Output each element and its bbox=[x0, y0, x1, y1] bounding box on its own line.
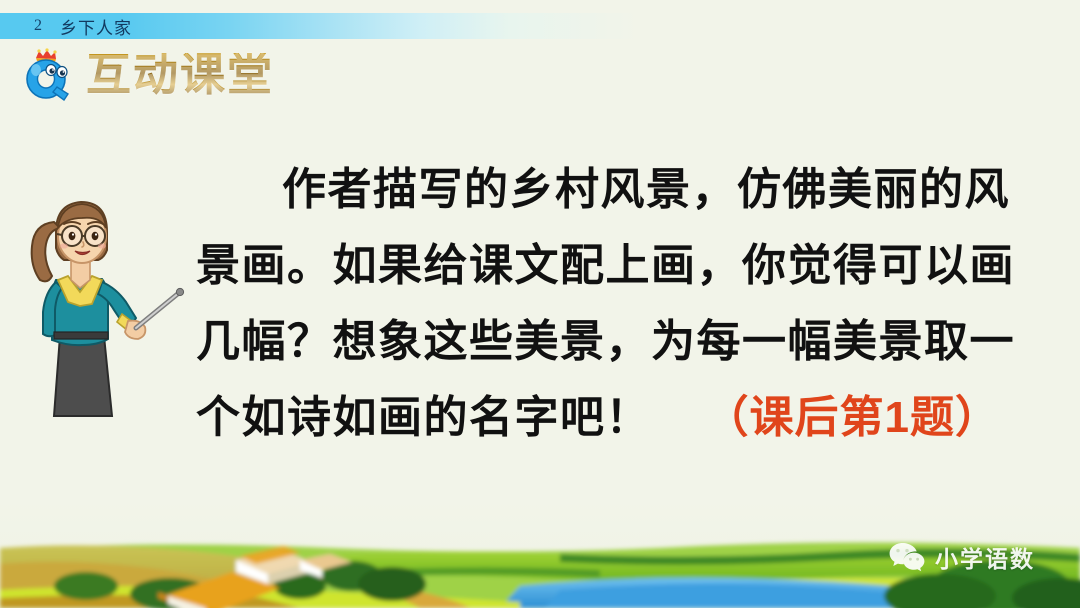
wechat-icon bbox=[888, 541, 926, 573]
question-reference: （课后第1题） bbox=[704, 393, 999, 442]
question-line-1: 作者描写的乡村风景，仿佛美丽的风 bbox=[196, 152, 1026, 228]
teacher-pointing-icon bbox=[12, 188, 187, 423]
question-line-3: 几幅？想象这些美景，为每一幅美景取一 bbox=[196, 304, 1026, 380]
chapter-number: 2 bbox=[34, 17, 43, 35]
section-title: 互动课堂 bbox=[24, 48, 274, 102]
blue-q-mascot-icon bbox=[24, 48, 74, 102]
slide-canvas: 2 乡下人家 互动课堂 bbox=[0, 0, 1080, 608]
watermark: 小学语数 bbox=[888, 540, 1035, 574]
chapter-bar-inner: 2 乡下人家 bbox=[34, 13, 132, 39]
section-title-label: 互动课堂 bbox=[86, 53, 274, 98]
question-text-block: 作者描写的乡村风景，仿佛美丽的风 景画。如果给课文配上画，你觉得可以画 几幅？想… bbox=[196, 152, 1026, 456]
question-line-4-row: 个如诗如画的名字吧！ （课后第1题） bbox=[196, 380, 1026, 456]
teacher-illustration-svg bbox=[12, 188, 187, 423]
chapter-bar: 2 乡下人家 bbox=[0, 13, 640, 39]
question-line-4: 个如诗如画的名字吧！ bbox=[196, 393, 651, 442]
chapter-title: 乡下人家 bbox=[60, 14, 132, 39]
watermark-label: 小学语数 bbox=[935, 540, 1035, 574]
question-line-2: 景画。如果给课文配上画，你觉得可以画 bbox=[196, 228, 1026, 304]
